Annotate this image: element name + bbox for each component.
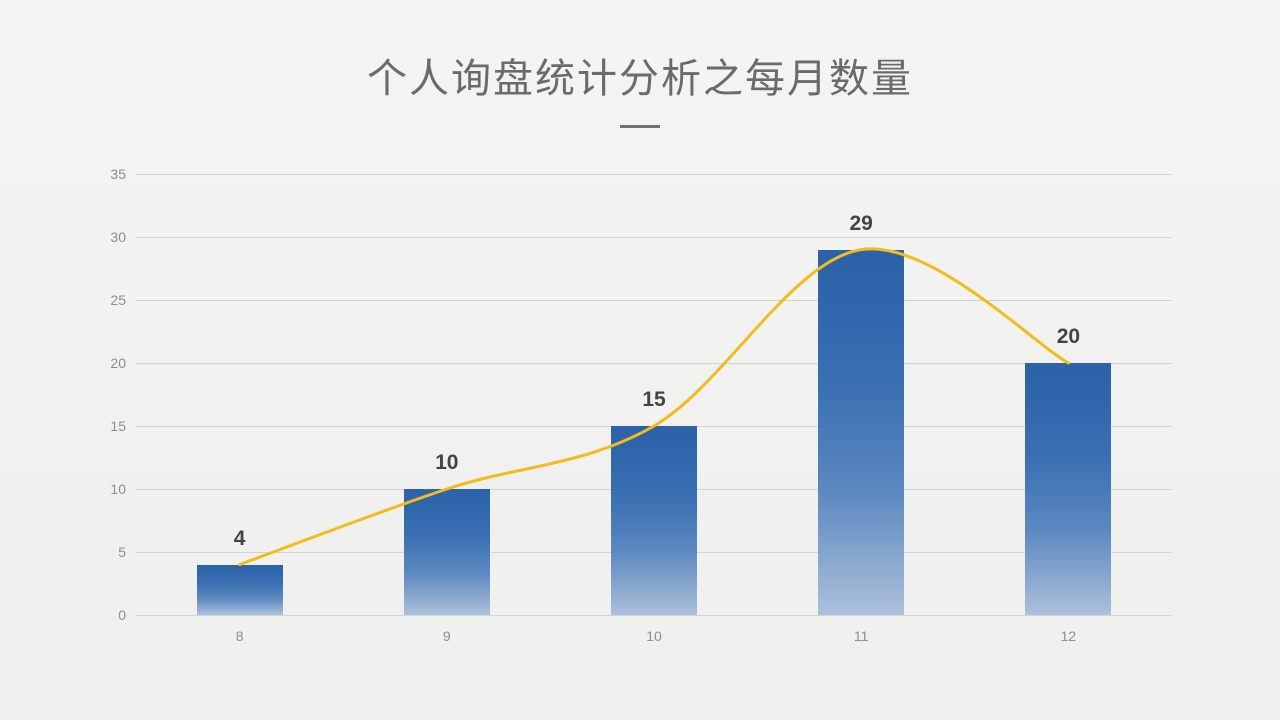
bar-11[interactable] bbox=[818, 250, 904, 615]
chart-plot-area: 410152920 bbox=[136, 174, 1172, 615]
y-axis-tick-label: 20 bbox=[86, 355, 126, 371]
y-axis-tick-label: 5 bbox=[86, 544, 126, 560]
x-axis-tick-label: 8 bbox=[236, 628, 244, 644]
bar-value-label: 15 bbox=[642, 388, 665, 412]
x-axis-tick-label: 12 bbox=[1061, 628, 1077, 644]
y-axis-tick-label: 30 bbox=[86, 229, 126, 245]
x-axis-tick-label: 10 bbox=[646, 628, 662, 644]
slide-canvas: 个人询盘统计分析之每月数量 05101520253035 410152920 8… bbox=[0, 0, 1280, 720]
bar-value-label: 4 bbox=[234, 527, 246, 551]
bar-9[interactable] bbox=[404, 489, 490, 615]
bar-value-label: 10 bbox=[435, 451, 458, 475]
gridline bbox=[136, 174, 1172, 175]
y-axis-tick-label: 25 bbox=[86, 292, 126, 308]
gridline bbox=[136, 237, 1172, 238]
y-axis-tick-label: 35 bbox=[86, 166, 126, 182]
x-axis: 89101112 bbox=[136, 628, 1172, 648]
gridline bbox=[136, 300, 1172, 301]
y-axis: 05101520253035 bbox=[86, 174, 126, 615]
gridline bbox=[136, 363, 1172, 364]
title-divider bbox=[620, 125, 660, 128]
x-axis-tick-label: 9 bbox=[443, 628, 451, 644]
gridline bbox=[136, 615, 1172, 616]
title-block: 个人询盘统计分析之每月数量 bbox=[0, 55, 1280, 128]
bar-value-label: 29 bbox=[850, 212, 873, 236]
bar-value-label: 20 bbox=[1057, 325, 1080, 349]
y-axis-tick-label: 0 bbox=[86, 607, 126, 623]
bar-10[interactable] bbox=[611, 426, 697, 615]
bar-12[interactable] bbox=[1025, 363, 1111, 615]
bar-8[interactable] bbox=[197, 565, 283, 615]
y-axis-tick-label: 15 bbox=[86, 418, 126, 434]
page-title: 个人询盘统计分析之每月数量 bbox=[0, 55, 1280, 103]
y-axis-tick-label: 10 bbox=[86, 481, 126, 497]
x-axis-tick-label: 11 bbox=[854, 628, 869, 644]
